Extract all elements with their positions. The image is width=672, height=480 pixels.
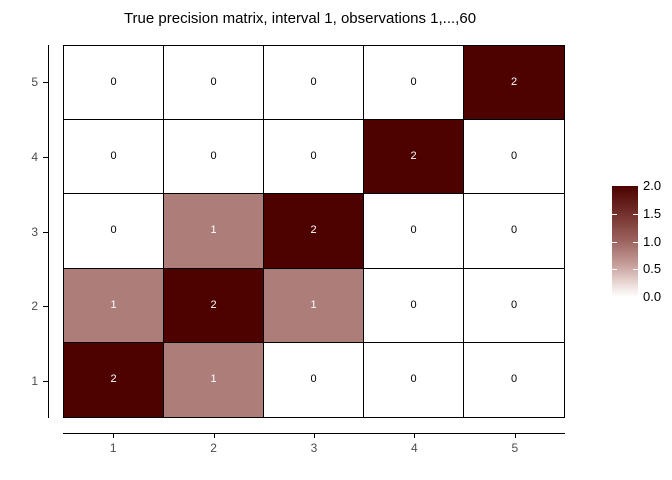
heatmap-cell: 2	[464, 46, 564, 120]
heatmap-cell-value: 0	[110, 225, 116, 236]
heatmap-chart: True precision matrix, interval 1, obser…	[0, 0, 672, 480]
y-axis-line	[48, 45, 49, 418]
heatmap-cell: 0	[164, 120, 264, 194]
y-axis-tick-label: 3	[0, 225, 38, 239]
heatmap-cell: 0	[364, 343, 464, 417]
x-axis-tick-label: 1	[93, 441, 133, 455]
heatmap-cell: 0	[64, 194, 164, 268]
heatmap-cell: 2	[164, 269, 264, 343]
heatmap-cell-value: 0	[210, 151, 216, 162]
heatmap-cell: 0	[464, 269, 564, 343]
heatmap-cell-value: 0	[410, 374, 416, 385]
y-axis-tick	[43, 82, 48, 83]
color-legend-tick	[633, 269, 638, 270]
x-axis-tick-label: 2	[194, 441, 234, 455]
heatmap-cell-value: 0	[310, 374, 316, 385]
heatmap-cell: 0	[364, 46, 464, 120]
x-axis-tick	[515, 433, 516, 438]
heatmap-cell: 1	[264, 269, 364, 343]
y-axis-tick-label: 2	[0, 299, 38, 313]
color-legend-tick	[612, 269, 617, 270]
heatmap-cell: 0	[64, 46, 164, 120]
heatmap-cell-value: 2	[210, 300, 216, 311]
x-axis-tick-label: 3	[294, 441, 334, 455]
color-legend	[612, 186, 638, 297]
color-legend-tick-label: 0.5	[643, 261, 672, 276]
heatmap-cell-value: 0	[410, 77, 416, 88]
heatmap-cell: 0	[464, 343, 564, 417]
heatmap-cell: 0	[364, 269, 464, 343]
color-legend-tick-label: 0.0	[643, 289, 672, 304]
x-axis-tick	[214, 433, 215, 438]
heatmap-panel: 0000200020012001210021000	[63, 45, 565, 418]
heatmap-cell-value: 0	[511, 225, 517, 236]
heatmap-cell-value: 0	[410, 300, 416, 311]
y-axis-tick	[43, 232, 48, 233]
heatmap-cell: 0	[464, 120, 564, 194]
heatmap-cell: 0	[64, 120, 164, 194]
x-axis-tick-label: 4	[394, 441, 434, 455]
chart-title: True precision matrix, interval 1, obser…	[0, 10, 600, 27]
y-axis-tick-label: 1	[0, 374, 38, 388]
heatmap-cell-value: 0	[410, 225, 416, 236]
x-axis-tick	[113, 433, 114, 438]
heatmap-cell: 1	[164, 194, 264, 268]
heatmap-cell: 0	[264, 120, 364, 194]
heatmap-cell: 2	[264, 194, 364, 268]
heatmap-cell-value: 0	[511, 374, 517, 385]
color-legend-tick	[612, 214, 617, 215]
heatmap-cell-value: 2	[110, 374, 116, 385]
heatmap-cell: 0	[164, 46, 264, 120]
heatmap-cell-value: 1	[310, 300, 316, 311]
color-legend-tick-label: 1.0	[643, 234, 672, 249]
heatmap-cell-value: 0	[511, 151, 517, 162]
y-axis-tick-label: 5	[0, 75, 38, 89]
color-legend-tick	[612, 242, 617, 243]
heatmap-cell: 0	[464, 194, 564, 268]
heatmap-cell: 0	[264, 46, 364, 120]
heatmap-cell-value: 0	[110, 77, 116, 88]
x-axis-tick	[314, 433, 315, 438]
y-axis-tick	[43, 306, 48, 307]
heatmap-cell-value: 2	[511, 77, 517, 88]
y-axis-tick	[43, 381, 48, 382]
heatmap-cell: 1	[164, 343, 264, 417]
heatmap-cell: 2	[364, 120, 464, 194]
heatmap-cell-value: 0	[310, 151, 316, 162]
heatmap-cell-value: 1	[210, 225, 216, 236]
heatmap-cell-value: 2	[310, 225, 316, 236]
color-legend-tick-label: 1.5	[643, 206, 672, 221]
heatmap-grid: 0000200020012001210021000	[64, 46, 564, 417]
color-legend-tick	[633, 242, 638, 243]
heatmap-cell-value: 0	[511, 300, 517, 311]
x-axis-tick-label: 5	[495, 441, 535, 455]
x-axis-tick	[414, 433, 415, 438]
heatmap-cell: 0	[264, 343, 364, 417]
heatmap-cell-value: 0	[210, 77, 216, 88]
heatmap-cell: 0	[364, 194, 464, 268]
heatmap-cell-value: 1	[110, 300, 116, 311]
heatmap-cell: 1	[64, 269, 164, 343]
heatmap-cell-value: 1	[210, 374, 216, 385]
heatmap-cell-value: 0	[110, 151, 116, 162]
heatmap-cell-value: 2	[410, 151, 416, 162]
heatmap-cell-value: 0	[310, 77, 316, 88]
heatmap-cell: 2	[64, 343, 164, 417]
color-legend-tick-label: 2.0	[643, 178, 672, 193]
color-legend-tick	[633, 214, 638, 215]
y-axis-tick-label: 4	[0, 150, 38, 164]
y-axis-tick	[43, 157, 48, 158]
